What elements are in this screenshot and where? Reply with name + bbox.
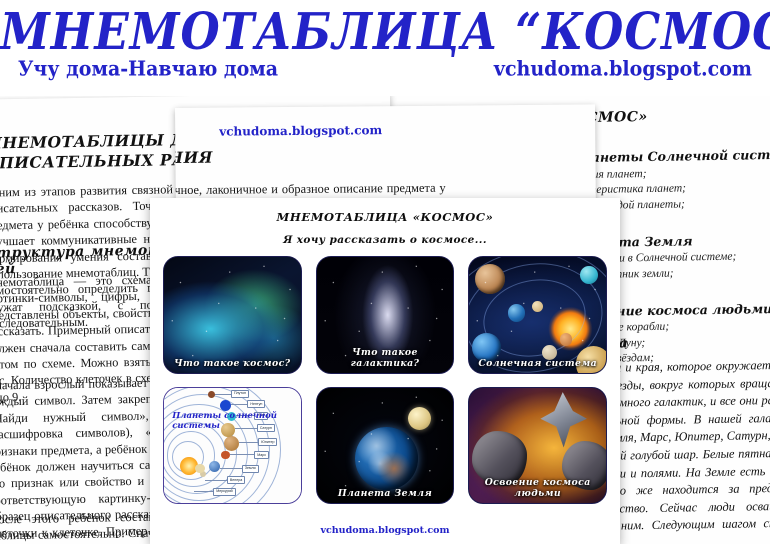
poster-canvas: ПЛАН РАССКАЗА «КОСМОС» 4. Планеты Солнеч… — [0, 0, 770, 544]
mnemotable-tile[interactable]: Что такое галактика? — [316, 256, 455, 374]
header-url[interactable]: vchudoma.blogspot.com — [494, 57, 752, 81]
mnemotable-tile[interactable]: Освоение космоса людьми — [468, 387, 607, 505]
mnemotable-card: МНЕМОТАБЛИЦА «КОСМОС» Я хочу рассказать … — [150, 198, 620, 544]
mnemotable-tile[interactable]: Что такое космос? — [163, 256, 302, 374]
planet-label: Меркурий — [213, 488, 235, 496]
planet-dot-neptune — [220, 400, 231, 411]
spacecraft-shape — [540, 392, 586, 447]
tile-caption: Планета Земля — [317, 488, 454, 499]
planet-label: Марс — [254, 451, 269, 459]
fragment-heading: СОСТАВЛЕНИЯ — [175, 147, 314, 168]
mnemotable-subtitle: Я хочу рассказать о космосе... — [150, 234, 620, 246]
tile-caption: Что такое космос? — [164, 358, 301, 369]
mnemotable-grid: Что такое космос? Что такое галактика? — [163, 256, 607, 504]
mnemotable-title: МНЕМОТАБЛИЦА «КОСМОС» — [150, 210, 620, 224]
planet-label: Плутон — [231, 390, 249, 398]
planet-label: Нептун — [247, 400, 265, 408]
planet-label: Земля — [242, 465, 259, 473]
planets-diagram-title: Планеты солнечной системы — [172, 411, 300, 432]
planet-dot-mars — [221, 451, 229, 459]
planet-label: Юпитер — [258, 438, 277, 446]
planet-label: Венера — [227, 476, 245, 484]
tile-caption: Солнечная система — [469, 358, 606, 369]
mnemotable-tile[interactable]: Плутон Нептун Уран Сатурн Юпитер Марс Зе… — [163, 387, 302, 505]
stars-decoration — [469, 257, 606, 373]
stars-decoration — [317, 388, 454, 504]
tile-caption: Освоение космоса людьми — [469, 477, 606, 499]
mnemotable-watermark-url: vchudoma.blogspot.com — [150, 525, 620, 536]
planet-dot-pluto — [208, 391, 215, 398]
planets-diagram-image: Плутон Нептун Уран Сатурн Юпитер Марс Зе… — [164, 388, 301, 504]
poster-header: МНЕМОТАБЛИЦА “КОСМОС” Учу дома-Навчаю до… — [0, 0, 770, 96]
mnemotable-tile[interactable]: Солнечная система — [468, 256, 607, 374]
stars-decoration — [164, 257, 301, 373]
fragment-watermark-url: vchudoma.blogspot.com — [219, 123, 382, 138]
tile-caption: Что такое галактика? — [317, 347, 454, 369]
mnemotable-tile[interactable]: Планета Земля — [316, 387, 455, 505]
page-title: МНЕМОТАБЛИЦА “КОСМОС” — [0, 2, 770, 61]
header-subtitle: Учу дома-Навчаю дома — [18, 57, 278, 81]
